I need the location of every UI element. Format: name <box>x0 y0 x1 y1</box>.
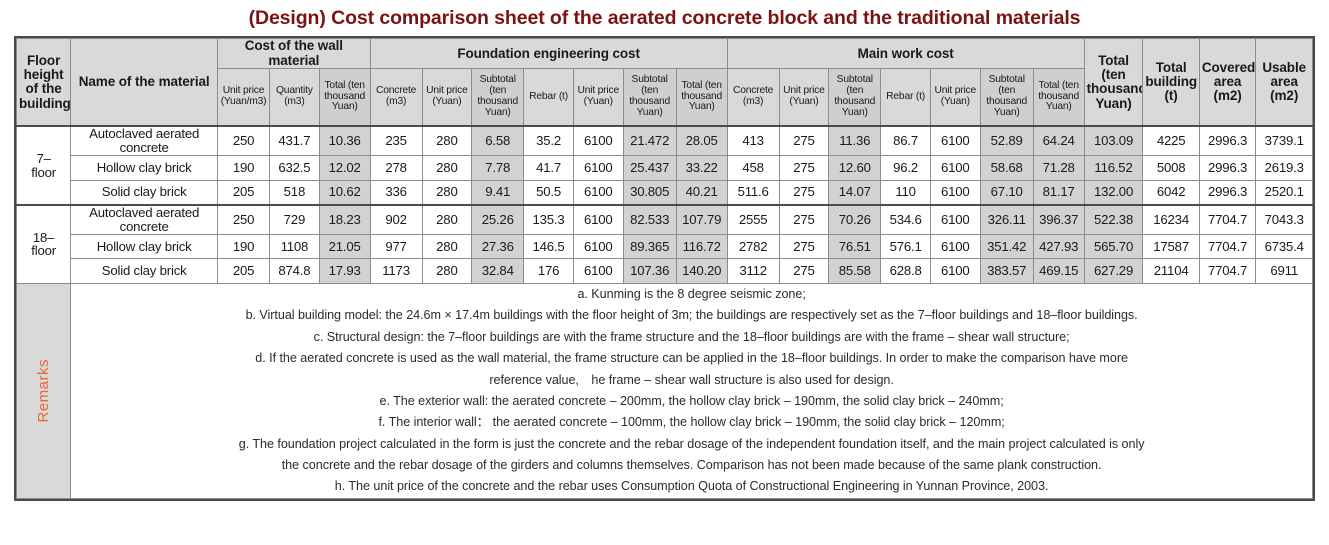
cell-main-concrete-subtotal: 70.26 <box>829 205 881 234</box>
cell-fnd-rebar-subtotal: 30.805 <box>623 180 676 205</box>
cell-main-concrete-unit-price: 275 <box>779 180 829 205</box>
cell-fnd-rebar: 135.3 <box>524 205 574 234</box>
subheader-main-rebar: Rebar (t) <box>881 69 931 127</box>
header-grand-total: Total (ten thousand Yuan) <box>1084 39 1143 126</box>
cell-total-building: 5008 <box>1143 156 1199 181</box>
cell-usable-area: 3739.1 <box>1256 126 1313 155</box>
cell-main-concrete-unit-price: 275 <box>779 126 829 155</box>
cell-wall-quantity: 518 <box>270 180 320 205</box>
cell-total-building: 4225 <box>1143 126 1199 155</box>
cell-main-concrete-subtotal: 76.51 <box>829 234 881 259</box>
subheader-wall-total: Total (ten thousand Yuan) <box>319 69 370 127</box>
material-name-cell: Hollow clay brick <box>71 234 218 259</box>
cell-wall-quantity: 729 <box>270 205 320 234</box>
header-covered-area: Covered area (m2) <box>1199 39 1255 126</box>
remarks-line: h. The unit price of the concrete and th… <box>73 476 1310 496</box>
cell-main-concrete-unit-price: 275 <box>779 156 829 181</box>
cell-covered-area: 7704.7 <box>1199 205 1255 234</box>
cell-total-building: 16234 <box>1143 205 1199 234</box>
material-name-cell: Hollow clay brick <box>71 156 218 181</box>
cell-covered-area: 7704.7 <box>1199 234 1255 259</box>
cell-main-concrete: 458 <box>727 156 779 181</box>
cell-fnd-total: 40.21 <box>676 180 727 205</box>
header-floor-height: Floor height of the building <box>17 39 71 126</box>
subheader-fnd-concrete: Concrete (m3) <box>370 69 422 127</box>
subheader-main-concrete: Concrete (m3) <box>727 69 779 127</box>
remarks-text-block: a. Kunming is the 8 degree seismic zone;… <box>73 284 1310 497</box>
subheader-fnd-total: Total (ten thousand Yuan) <box>676 69 727 127</box>
cell-main-rebar: 110 <box>881 180 931 205</box>
cell-wall-total: 21.05 <box>319 234 370 259</box>
cell-main-total: 469.15 <box>1033 259 1084 284</box>
floor-height-cell: 7–floor <box>17 126 71 205</box>
table-body: 7–floorAutoclaved aerated concrete250431… <box>17 126 1313 283</box>
subheader-main-total: Total (ten thousand Yuan) <box>1033 69 1084 127</box>
cell-fnd-concrete-unit-price: 280 <box>422 156 472 181</box>
cell-main-rebar-subtotal: 58.68 <box>980 156 1033 181</box>
material-name-cell: Solid clay brick <box>71 259 218 284</box>
cell-grand-total: 103.09 <box>1084 126 1143 155</box>
cell-fnd-concrete-subtotal: 25.26 <box>472 205 524 234</box>
cell-usable-area: 6735.4 <box>1256 234 1313 259</box>
material-name-cell: Autoclaved aerated concrete <box>71 126 218 155</box>
cell-main-total: 64.24 <box>1033 126 1084 155</box>
cell-fnd-concrete-unit-price: 280 <box>422 205 472 234</box>
subheader-fnd-rebar-unit-price: Unit price (Yuan) <box>573 69 623 127</box>
cell-wall-quantity: 1108 <box>270 234 320 259</box>
cell-main-concrete: 511.6 <box>727 180 779 205</box>
cell-main-rebar-subtotal: 52.89 <box>980 126 1033 155</box>
cost-comparison-table-wrapper: Floor height of the building Name of the… <box>14 36 1315 500</box>
cell-covered-area: 2996.3 <box>1199 180 1255 205</box>
cell-wall-unit-price: 205 <box>218 180 270 205</box>
cell-total-building: 21104 <box>1143 259 1199 284</box>
cell-main-rebar-unit-price: 6100 <box>930 234 980 259</box>
cell-fnd-concrete-subtotal: 6.58 <box>472 126 524 155</box>
cell-fnd-total: 28.05 <box>676 126 727 155</box>
cell-wall-unit-price: 250 <box>218 126 270 155</box>
cell-main-concrete: 3112 <box>727 259 779 284</box>
cell-fnd-rebar: 35.2 <box>524 126 574 155</box>
cell-total-building: 6042 <box>1143 180 1199 205</box>
remarks-line: f. The interior wall： the aerated concre… <box>73 412 1310 432</box>
cell-fnd-rebar-unit-price: 6100 <box>573 234 623 259</box>
subheader-wall-quantity: Quantity (m3) <box>270 69 320 127</box>
cell-grand-total: 565.70 <box>1084 234 1143 259</box>
cell-main-concrete-subtotal: 12.60 <box>829 156 881 181</box>
remarks-line: d. If the aerated concrete is used as th… <box>73 348 1310 368</box>
cell-main-rebar-unit-price: 6100 <box>930 126 980 155</box>
cell-main-rebar: 534.6 <box>881 205 931 234</box>
cell-main-rebar-unit-price: 6100 <box>930 259 980 284</box>
cell-grand-total: 132.00 <box>1084 180 1143 205</box>
cell-wall-unit-price: 250 <box>218 205 270 234</box>
cell-main-concrete: 2782 <box>727 234 779 259</box>
cell-fnd-rebar: 41.7 <box>524 156 574 181</box>
material-name-cell: Solid clay brick <box>71 180 218 205</box>
cell-fnd-rebar-subtotal: 107.36 <box>623 259 676 284</box>
cell-fnd-rebar-subtotal: 21.472 <box>623 126 676 155</box>
subheader-main-concrete-unit-price: Unit price (Yuan) <box>779 69 829 127</box>
cell-main-total: 396.37 <box>1033 205 1084 234</box>
cell-wall-total: 10.62 <box>319 180 370 205</box>
remarks-label-cell: Remarks <box>17 283 71 498</box>
table-head: Floor height of the building Name of the… <box>17 39 1313 126</box>
cell-main-total: 71.28 <box>1033 156 1084 181</box>
cell-fnd-concrete: 278 <box>370 156 422 181</box>
table-row: Solid clay brick20551810.623362809.4150.… <box>17 180 1313 205</box>
cell-main-rebar-unit-price: 6100 <box>930 156 980 181</box>
cell-main-concrete-subtotal: 11.36 <box>829 126 881 155</box>
cell-usable-area: 2520.1 <box>1256 180 1313 205</box>
cell-wall-quantity: 874.8 <box>270 259 320 284</box>
cell-main-rebar: 86.7 <box>881 126 931 155</box>
cell-main-rebar: 576.1 <box>881 234 931 259</box>
cell-covered-area: 2996.3 <box>1199 126 1255 155</box>
cell-fnd-concrete: 235 <box>370 126 422 155</box>
cell-fnd-rebar-unit-price: 6100 <box>573 259 623 284</box>
table-row: Hollow clay brick190110821.0597728027.36… <box>17 234 1313 259</box>
cell-main-concrete-unit-price: 275 <box>779 259 829 284</box>
cell-main-concrete-subtotal: 14.07 <box>829 180 881 205</box>
cell-main-concrete: 2555 <box>727 205 779 234</box>
subheader-fnd-concrete-unit-price: Unit price (Yuan) <box>422 69 472 127</box>
table-row: Hollow clay brick190632.512.022782807.78… <box>17 156 1313 181</box>
floor-height-cell: 18–floor <box>17 205 71 283</box>
cell-fnd-rebar-unit-price: 6100 <box>573 180 623 205</box>
cell-fnd-total: 107.79 <box>676 205 727 234</box>
cell-main-rebar-subtotal: 383.57 <box>980 259 1033 284</box>
cell-fnd-concrete: 902 <box>370 205 422 234</box>
cell-fnd-rebar-unit-price: 6100 <box>573 126 623 155</box>
cell-fnd-rebar: 176 <box>524 259 574 284</box>
cell-main-rebar: 96.2 <box>881 156 931 181</box>
cell-wall-total: 18.23 <box>319 205 370 234</box>
cell-fnd-total: 140.20 <box>676 259 727 284</box>
cell-main-rebar: 628.8 <box>881 259 931 284</box>
cell-wall-unit-price: 205 <box>218 259 270 284</box>
cell-fnd-rebar: 50.5 <box>524 180 574 205</box>
remarks-line: reference value, he frame – shear wall s… <box>73 370 1310 390</box>
cell-fnd-rebar-unit-price: 6100 <box>573 156 623 181</box>
header-total-building: Total building (t) <box>1143 39 1199 126</box>
cell-main-concrete: 413 <box>727 126 779 155</box>
cell-wall-unit-price: 190 <box>218 156 270 181</box>
subheader-main-concrete-subtotal: Subtotal (ten thousand Yuan) <box>829 69 881 127</box>
cell-fnd-rebar: 146.5 <box>524 234 574 259</box>
cell-main-rebar-unit-price: 6100 <box>930 180 980 205</box>
remarks-vertical-wrap: Remarks <box>17 284 70 498</box>
cell-fnd-concrete: 1173 <box>370 259 422 284</box>
cell-fnd-concrete-subtotal: 9.41 <box>472 180 524 205</box>
cell-covered-area: 2996.3 <box>1199 156 1255 181</box>
cell-fnd-total: 33.22 <box>676 156 727 181</box>
cell-fnd-concrete-unit-price: 280 <box>422 234 472 259</box>
cost-comparison-table: Floor height of the building Name of the… <box>16 38 1313 498</box>
cell-main-concrete-unit-price: 275 <box>779 205 829 234</box>
cell-fnd-concrete-unit-price: 280 <box>422 259 472 284</box>
cell-covered-area: 7704.7 <box>1199 259 1255 284</box>
table-row: Solid clay brick205874.817.93117328032.8… <box>17 259 1313 284</box>
remarks-line: e. The exterior wall: the aerated concre… <box>73 391 1310 411</box>
cell-usable-area: 7043.3 <box>1256 205 1313 234</box>
cell-fnd-concrete-subtotal: 27.36 <box>472 234 524 259</box>
table-row: 7–floorAutoclaved aerated concrete250431… <box>17 126 1313 155</box>
cell-main-rebar-subtotal: 326.11 <box>980 205 1033 234</box>
cell-wall-total: 17.93 <box>319 259 370 284</box>
subheader-main-rebar-unit-price: Unit price (Yuan) <box>930 69 980 127</box>
cell-fnd-concrete: 336 <box>370 180 422 205</box>
cost-comparison-sheet-page: (Design) Cost comparison sheet of the ae… <box>0 0 1329 545</box>
cell-usable-area: 6911 <box>1256 259 1313 284</box>
cell-fnd-concrete-subtotal: 7.78 <box>472 156 524 181</box>
cell-main-rebar-subtotal: 67.10 <box>980 180 1033 205</box>
subheader-main-rebar-subtotal: Subtotal (ten thousand Yuan) <box>980 69 1033 127</box>
cell-wall-unit-price: 190 <box>218 234 270 259</box>
cell-fnd-concrete-unit-price: 280 <box>422 180 472 205</box>
material-name-cell: Autoclaved aerated concrete <box>71 205 218 234</box>
cell-fnd-rebar-subtotal: 89.365 <box>623 234 676 259</box>
cell-grand-total: 627.29 <box>1084 259 1143 284</box>
remarks-row: Remarks a. Kunming is the 8 degree seism… <box>17 283 1313 498</box>
header-material-name: Name of the material <box>71 39 218 126</box>
cell-wall-quantity: 431.7 <box>270 126 320 155</box>
cell-wall-quantity: 632.5 <box>270 156 320 181</box>
table-row: 18–floorAutoclaved aerated concrete25072… <box>17 205 1313 234</box>
cell-fnd-rebar-subtotal: 25.437 <box>623 156 676 181</box>
cell-main-total: 427.93 <box>1033 234 1084 259</box>
cell-usable-area: 2619.3 <box>1256 156 1313 181</box>
remarks-line: a. Kunming is the 8 degree seismic zone; <box>73 284 1310 304</box>
remarks-body-cell: a. Kunming is the 8 degree seismic zone;… <box>71 283 1313 498</box>
cell-grand-total: 522.38 <box>1084 205 1143 234</box>
cell-main-rebar-unit-price: 6100 <box>930 205 980 234</box>
subheader-fnd-rebar: Rebar (t) <box>524 69 574 127</box>
cell-total-building: 17587 <box>1143 234 1199 259</box>
cell-wall-total: 12.02 <box>319 156 370 181</box>
remarks-section: Remarks a. Kunming is the 8 degree seism… <box>17 283 1313 498</box>
cell-fnd-concrete-subtotal: 32.84 <box>472 259 524 284</box>
page-title: (Design) Cost comparison sheet of the ae… <box>0 0 1329 36</box>
subheader-fnd-concrete-subtotal: Subtotal (ten thousand Yuan) <box>472 69 524 127</box>
cell-fnd-rebar-subtotal: 82.533 <box>623 205 676 234</box>
remarks-label: Remarks <box>36 359 52 423</box>
cell-fnd-concrete-unit-price: 280 <box>422 126 472 155</box>
remarks-line: b. Virtual building model: the 24.6m × 1… <box>73 305 1310 325</box>
cell-fnd-total: 116.72 <box>676 234 727 259</box>
group-header-foundation-cost: Foundation engineering cost <box>370 39 727 69</box>
remarks-line: c. Structural design: the 7–floor buildi… <box>73 327 1310 347</box>
group-header-main-work-cost: Main work cost <box>727 39 1084 69</box>
header-usable-area: Usable area (m2) <box>1256 39 1313 126</box>
remarks-line: g. The foundation project calculated in … <box>73 434 1310 454</box>
cell-main-concrete-subtotal: 85.58 <box>829 259 881 284</box>
cell-main-total: 81.17 <box>1033 180 1084 205</box>
cell-fnd-concrete: 977 <box>370 234 422 259</box>
cell-main-rebar-subtotal: 351.42 <box>980 234 1033 259</box>
cell-grand-total: 116.52 <box>1084 156 1143 181</box>
cell-fnd-rebar-unit-price: 6100 <box>573 205 623 234</box>
subheader-fnd-rebar-subtotal: Subtotal (ten thousand Yuan) <box>623 69 676 127</box>
cell-main-concrete-unit-price: 275 <box>779 234 829 259</box>
subheader-wall-unit-price: Unit price (Yuan/m3) <box>218 69 270 127</box>
remarks-line: the concrete and the rebar dosage of the… <box>73 455 1310 475</box>
cell-wall-total: 10.36 <box>319 126 370 155</box>
group-header-row: Floor height of the building Name of the… <box>17 39 1313 69</box>
group-header-wall-material: Cost of the wall material <box>218 39 371 69</box>
